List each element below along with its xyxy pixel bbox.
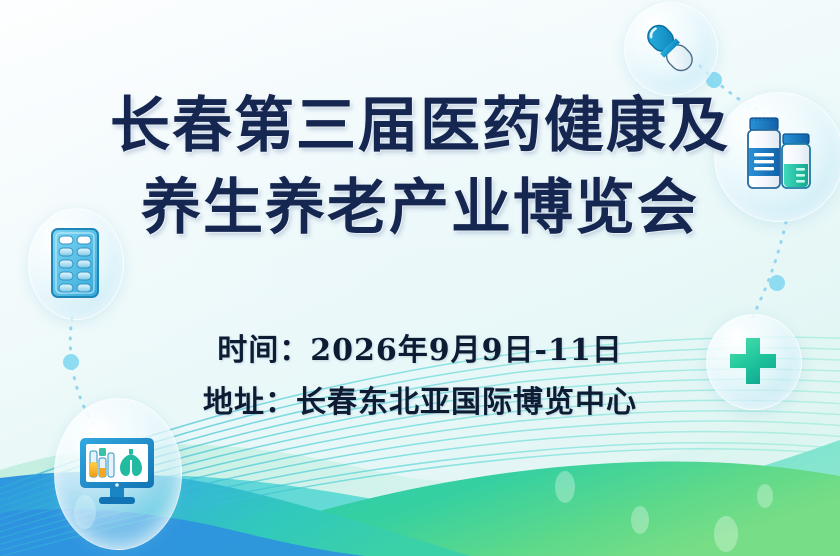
event-info-block: 时间：2026年9月9日-11日 地址：长春东北亚国际博览中心: [0, 336, 840, 418]
event-date-line: 时间：2026年9月9日-11日: [0, 336, 840, 366]
headline-block: 长春第三届医药健康及 养生养老产业博览会: [0, 96, 840, 238]
bubble-capsule: [624, 2, 718, 96]
poster-title-line-1: 长春第三届医药健康及: [0, 96, 840, 156]
exhibition-poster: 长春第三届医药健康及 养生养老产业博览会 时间：2026年9月9日-11日 地址…: [0, 0, 840, 556]
event-venue-line: 地址：长春东北亚国际博览中心: [0, 388, 840, 418]
poster-title-line-2: 养生养老产业博览会: [0, 178, 840, 238]
connector-node-icon: [769, 275, 785, 291]
bubble-computer-monitor: [54, 398, 182, 550]
